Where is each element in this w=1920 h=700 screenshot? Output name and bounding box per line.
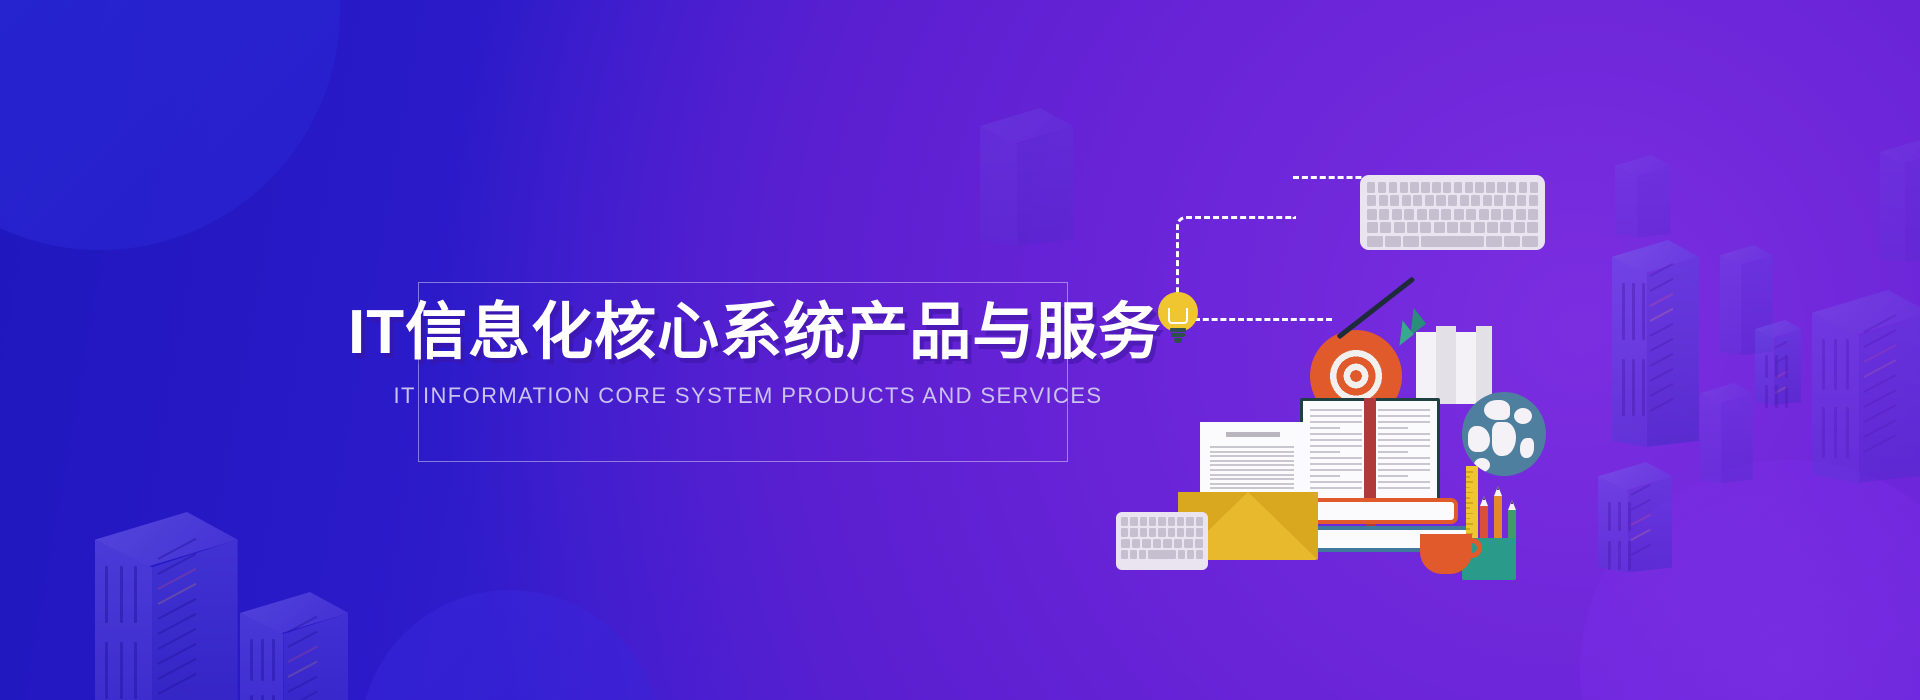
building-face-left [1700, 393, 1721, 483]
building-window [1632, 359, 1635, 416]
building-face-left [1720, 255, 1741, 355]
text-line [1378, 445, 1430, 447]
keyboard-key [1508, 182, 1516, 193]
keyboard-key [1385, 236, 1401, 247]
keyboard-row [1121, 528, 1203, 537]
text-line [1378, 451, 1408, 453]
keyboard-key [1168, 517, 1175, 526]
building-window [134, 566, 137, 623]
building-window [1642, 359, 1645, 416]
keyboard-row [1121, 550, 1203, 559]
keyboard-key [1139, 550, 1146, 559]
lightbulb-base-ring-icon [1171, 333, 1185, 337]
dashed-connector-line-horizontal [1194, 318, 1332, 321]
keyboard-key [1528, 209, 1538, 220]
keyboard-key [1483, 195, 1492, 206]
pencil-lead [1483, 496, 1485, 500]
keyboard-key [1429, 209, 1439, 220]
keyboard-key [1187, 550, 1194, 559]
text-line [1378, 415, 1430, 417]
building-window [105, 642, 108, 699]
keyboard-key [1454, 209, 1464, 220]
pencil-orange [1494, 486, 1502, 544]
isometric-building [1615, 155, 1687, 249]
keyboard-key [1479, 209, 1489, 220]
keyboard-key [1130, 528, 1137, 537]
keyboard-row [1367, 209, 1538, 220]
text-line [1378, 421, 1430, 423]
text-line [1378, 427, 1408, 429]
ruler-tick [1466, 507, 1470, 509]
building-window [1834, 407, 1837, 458]
keyboard-key [1413, 195, 1422, 206]
keyboard-key [1506, 195, 1515, 206]
building-window [1608, 502, 1611, 531]
keyboard-key [1149, 517, 1156, 526]
lightbulb-base-icon [1170, 328, 1186, 332]
keyboard-key [1367, 222, 1378, 233]
text-line [1310, 451, 1340, 453]
building-face-right [1647, 257, 1699, 447]
isometric-building [1598, 462, 1694, 587]
keyboard-key [1186, 528, 1193, 537]
isometric-building [1880, 140, 1920, 274]
keyboard-key [1367, 195, 1376, 206]
ruler-tick [1466, 528, 1470, 530]
keyboard-key [1454, 182, 1462, 193]
keyboard-key [1517, 195, 1526, 206]
keyboard-key [1417, 209, 1427, 220]
text-line [1378, 457, 1430, 459]
text-line [1310, 421, 1362, 423]
keyboard-key [1407, 222, 1418, 233]
lightbulb-filament-icon [1168, 308, 1188, 324]
text-line [1310, 439, 1362, 441]
text-line [1210, 474, 1294, 476]
keyboard-key [1503, 209, 1513, 220]
keyboard-key [1130, 550, 1137, 559]
building-window [1622, 283, 1625, 340]
keyboard-key [1475, 182, 1483, 193]
keyboard-key [1522, 236, 1538, 247]
building-window [1785, 385, 1788, 408]
keyboard-key [1389, 182, 1397, 193]
keyboard-key [1491, 209, 1501, 220]
building-face-left [1598, 476, 1628, 572]
building-face-left [980, 126, 1017, 246]
ruler-tick [1466, 492, 1473, 494]
document-heading-line [1226, 432, 1280, 437]
hero-banner: IT信息化核心系统产品与服务 IT INFORMATION CORE SYSTE… [0, 0, 1920, 700]
text-line [1378, 433, 1430, 435]
page-title: IT信息化核心系统产品与服务 [348, 300, 1148, 367]
building-window [1822, 407, 1825, 458]
keyboard-key [1404, 209, 1414, 220]
building-face-right [1905, 152, 1920, 262]
building-window [1618, 502, 1621, 531]
building-face-left [1615, 166, 1637, 238]
building-face-left [95, 540, 152, 700]
keyboard-key [1184, 539, 1193, 548]
text-line [1310, 409, 1362, 411]
building-window [1628, 541, 1631, 570]
text-line [1310, 415, 1362, 417]
building-window [134, 642, 137, 699]
keyboard-key [1410, 182, 1418, 193]
text-line [1210, 460, 1294, 462]
ruler-tick [1466, 497, 1470, 499]
keyboard-key [1121, 539, 1130, 548]
text-line [1378, 409, 1430, 411]
ruler-tick [1466, 502, 1473, 504]
building-window [1642, 283, 1645, 340]
text-line [1310, 457, 1362, 459]
isometric-building [1700, 383, 1768, 493]
keyboard-key [1378, 182, 1386, 193]
keyboard-key [1487, 222, 1498, 233]
ruler-tick [1466, 518, 1470, 520]
keyboard-key [1425, 195, 1434, 206]
keyboard-key [1465, 182, 1473, 193]
illustration-group [1120, 130, 1540, 590]
ruler-tick [1466, 487, 1470, 489]
keyboard-key [1443, 182, 1451, 193]
keyboard-key [1367, 209, 1377, 220]
keyboard-key [1436, 195, 1445, 206]
text-line [1378, 439, 1430, 441]
text-line [1378, 475, 1408, 477]
ruler-tick [1466, 513, 1473, 515]
building-window [1628, 502, 1631, 531]
keyboard-key [1121, 528, 1128, 537]
building-window [1785, 355, 1788, 378]
page-subtitle: IT INFORMATION CORE SYSTEM PRODUCTS AND … [348, 383, 1148, 409]
keyboard-key [1177, 517, 1184, 526]
text-line [1310, 427, 1340, 429]
book-page [1371, 401, 1437, 499]
keyboard-key [1121, 550, 1128, 559]
keyboard-key [1142, 539, 1151, 548]
open-book-icon [1300, 398, 1440, 502]
keyboard-key [1132, 539, 1141, 548]
building-face-right [1637, 166, 1670, 238]
keyboard-key [1447, 222, 1458, 233]
building-window [1822, 339, 1825, 390]
keyboard-key [1158, 528, 1165, 537]
keyboard-icon [1360, 175, 1545, 250]
keyboard-key [1460, 195, 1469, 206]
text-line [1378, 481, 1430, 483]
cup-body [1420, 534, 1472, 574]
keyboard-key [1163, 539, 1172, 548]
keyboard-key [1434, 222, 1445, 233]
title-block: IT信息化核心系统产品与服务 IT INFORMATION CORE SYSTE… [348, 300, 1148, 409]
building-window [1608, 541, 1611, 570]
pencil-body [1494, 496, 1502, 544]
building-face-right [1859, 313, 1920, 483]
keyboard-key [1420, 222, 1431, 233]
text-line [1310, 433, 1362, 435]
keyboard-key [1140, 517, 1147, 526]
pencil-red [1480, 496, 1488, 544]
building-window [1775, 355, 1778, 378]
keyboard-key [1367, 182, 1375, 193]
isometric-building [1812, 290, 1920, 506]
keyboard-key [1130, 517, 1137, 526]
building-window [1775, 385, 1778, 408]
text-line [1378, 487, 1430, 489]
building-face-left [1880, 152, 1905, 262]
keyboard-key [1186, 517, 1193, 526]
ruler-tick [1466, 471, 1473, 473]
isometric-building [980, 108, 1100, 264]
pencil-lead [1497, 486, 1499, 490]
keyboard-key [1441, 209, 1451, 220]
keyboard-key [1514, 222, 1525, 233]
text-line [1210, 478, 1294, 480]
keyboard-key [1494, 195, 1503, 206]
isometric-building [240, 592, 380, 700]
keyboard-key [1195, 539, 1204, 548]
pencil-lead [1511, 500, 1513, 504]
keyboard-key [1196, 550, 1203, 559]
building-window [261, 639, 264, 681]
building-window [1765, 355, 1768, 378]
lightbulb-tip-icon [1174, 338, 1182, 343]
building-window [120, 566, 123, 623]
keyboard-key [1153, 539, 1162, 548]
building-window [1632, 283, 1635, 340]
keyboard-key [1486, 182, 1494, 193]
keyboard-key [1519, 182, 1527, 193]
keyboard-key [1530, 182, 1538, 193]
keyboard-key [1379, 209, 1389, 220]
building-window [120, 642, 123, 699]
keyboard-key [1140, 528, 1147, 537]
text-line [1210, 483, 1294, 485]
keyboard-row [1121, 517, 1203, 526]
keyboard-key [1394, 222, 1405, 233]
keyboard-key [1500, 222, 1511, 233]
keyboard-key [1403, 236, 1419, 247]
text-line [1378, 463, 1430, 465]
building-window [261, 695, 264, 700]
keyboard-key [1168, 528, 1175, 537]
keyboard-key [1148, 550, 1176, 559]
text-line [1310, 463, 1362, 465]
keyboard-key [1196, 517, 1203, 526]
building-window [105, 566, 108, 623]
keyboard-key [1402, 195, 1411, 206]
background-circle-bottom-left [360, 590, 660, 700]
building-window [1846, 407, 1849, 458]
building-window [1622, 359, 1625, 416]
keyboard-key [1497, 182, 1505, 193]
keyboard-key [1178, 550, 1185, 559]
keyboard-key [1504, 236, 1520, 247]
building-window [250, 639, 253, 681]
globe-icon [1462, 392, 1546, 476]
ruler-tick [1466, 476, 1470, 478]
text-line [1378, 469, 1430, 471]
keyboard-key [1432, 182, 1440, 193]
keyboard-row [1367, 222, 1538, 233]
second-keyboard-icon [1116, 512, 1208, 570]
building-window [1846, 339, 1849, 390]
keyboard-row [1121, 539, 1203, 548]
keyboard-key [1400, 182, 1408, 193]
text-line [1210, 464, 1294, 466]
keyboard-key [1367, 236, 1383, 247]
keyboard-key [1474, 222, 1485, 233]
keyboard-key [1421, 236, 1484, 247]
background-circle-top-left [0, 0, 340, 250]
keyboard-key [1380, 222, 1391, 233]
keyboard-row [1367, 182, 1538, 193]
keyboard-key [1471, 195, 1480, 206]
keyboard-key [1392, 209, 1402, 220]
keyboard-key [1379, 195, 1388, 206]
envelope-flap-right [1248, 492, 1318, 560]
keyboard-key [1460, 222, 1471, 233]
ruler-icon [1466, 466, 1478, 542]
building-window [250, 695, 253, 700]
keyboard-row [1367, 236, 1538, 247]
keyboard-key [1177, 528, 1184, 537]
building-window [1834, 339, 1837, 390]
ruler-tick [1466, 523, 1473, 525]
building-window [272, 695, 275, 700]
text-line [1210, 469, 1294, 471]
text-line [1210, 455, 1294, 457]
text-line [1210, 451, 1294, 453]
keyboard-key [1421, 182, 1429, 193]
keyboard-key [1121, 517, 1128, 526]
keyboard-key [1390, 195, 1399, 206]
text-line [1210, 487, 1294, 489]
building-face-right [1721, 393, 1753, 483]
keyboard-key [1196, 528, 1203, 537]
keyboard-key [1466, 209, 1476, 220]
dashed-connector-line [1176, 216, 1296, 294]
keyboard-key [1529, 195, 1538, 206]
building-face-right [1017, 126, 1073, 246]
keyboard-key [1174, 539, 1183, 548]
text-line [1210, 446, 1294, 448]
building-window [1618, 541, 1621, 570]
keyboard-key [1448, 195, 1457, 206]
building-window [272, 639, 275, 681]
keyboard-key [1527, 222, 1538, 233]
keyboard-key [1516, 209, 1526, 220]
coffee-cup-icon [1420, 534, 1476, 574]
keyboard-key [1486, 236, 1502, 247]
keyboard-key [1158, 517, 1165, 526]
keyboard-key [1149, 528, 1156, 537]
ruler-tick [1466, 481, 1473, 483]
text-line [1310, 445, 1362, 447]
keyboard-row [1367, 195, 1538, 206]
